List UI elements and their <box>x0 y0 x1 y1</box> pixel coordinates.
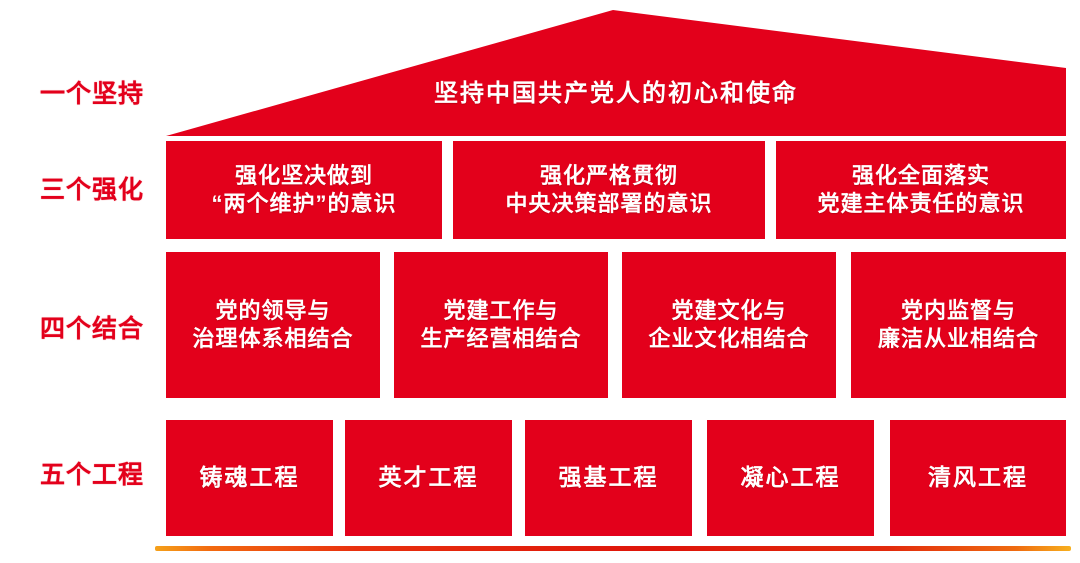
project-card-2[interactable]: 英才工程 <box>345 420 512 536</box>
project-card-4[interactable]: 凝心工程 <box>707 420 874 536</box>
strengthening-card-1-line1: 强化坚决做到 <box>211 162 396 190</box>
strengthening-card-2-line1: 强化严格贯彻 <box>505 162 712 190</box>
integration-card-1-line1: 党的领导与 <box>192 297 353 325</box>
project-card-3-label: 强基工程 <box>559 463 659 492</box>
project-card-2-label: 英才工程 <box>379 463 479 492</box>
integration-card-3-line2: 企业文化相结合 <box>648 325 809 353</box>
integration-card-1[interactable]: 党的领导与 治理体系相结合 <box>166 252 380 398</box>
row-label-four-integrations: 四个结合 <box>22 317 162 342</box>
strengthening-card-1[interactable]: 强化坚决做到 “两个维护”的意识 <box>166 141 442 239</box>
strengthening-card-1-line2: “两个维护”的意识 <box>211 190 396 218</box>
strengthening-card-3[interactable]: 强化全面落实 党建主体责任的意识 <box>776 141 1066 239</box>
project-card-1[interactable]: 铸魂工程 <box>166 420 333 536</box>
row-label-five-projects: 五个工程 <box>22 463 162 488</box>
row-label-three-strengthenings: 三个强化 <box>22 178 162 203</box>
integration-card-4-line1: 党内监督与 <box>878 297 1039 325</box>
strengthening-card-3-line2: 党建主体责任的意识 <box>817 190 1024 218</box>
integration-card-2[interactable]: 党建工作与 生产经营相结合 <box>394 252 608 398</box>
ground-baseline <box>155 546 1071 551</box>
integration-card-4[interactable]: 党内监督与 廉洁从业相结合 <box>851 252 1066 398</box>
diagram-canvas: 一个坚持 三个强化 四个结合 五个工程 坚持中国共产党人的初心和使命 强化坚决做… <box>0 0 1080 563</box>
project-card-5[interactable]: 清风工程 <box>890 420 1066 536</box>
integration-card-2-line1: 党建工作与 <box>420 297 581 325</box>
project-card-3[interactable]: 强基工程 <box>525 420 692 536</box>
roof-banner-text: 坚持中国共产党人的初心和使命 <box>166 82 1066 106</box>
strengthening-card-2[interactable]: 强化严格贯彻 中央决策部署的意识 <box>453 141 765 239</box>
roof-triangle-shape <box>166 10 1066 136</box>
row-label-one-persistence: 一个坚持 <box>22 82 162 107</box>
integration-card-2-line2: 生产经营相结合 <box>420 325 581 353</box>
project-card-5-label: 清风工程 <box>928 463 1028 492</box>
roof-triangle-icon <box>166 10 1066 136</box>
integration-card-3-line1: 党建文化与 <box>648 297 809 325</box>
integration-card-1-line2: 治理体系相结合 <box>192 325 353 353</box>
integration-card-3[interactable]: 党建文化与 企业文化相结合 <box>622 252 836 398</box>
strengthening-card-2-line2: 中央决策部署的意识 <box>505 190 712 218</box>
project-card-4-label: 凝心工程 <box>741 463 841 492</box>
integration-card-4-line2: 廉洁从业相结合 <box>878 325 1039 353</box>
project-card-1-label: 铸魂工程 <box>200 463 300 492</box>
strengthening-card-3-line1: 强化全面落实 <box>817 162 1024 190</box>
